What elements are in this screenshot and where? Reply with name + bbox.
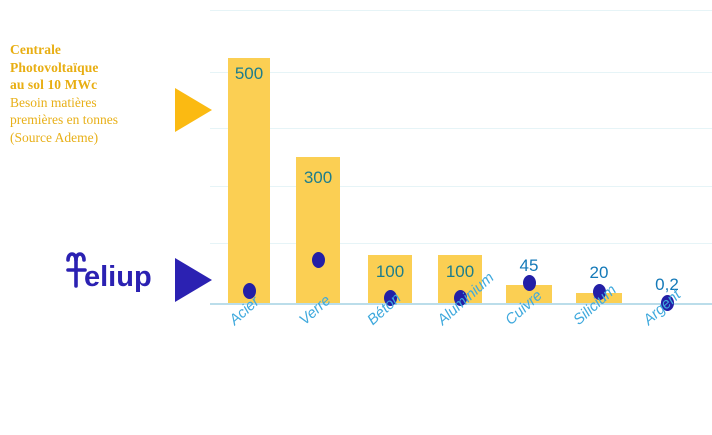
gridline bbox=[210, 243, 712, 244]
bar-value-label: 100 bbox=[368, 262, 412, 282]
bar[interactable] bbox=[228, 58, 270, 303]
bar-value-label: 20 bbox=[576, 263, 622, 283]
bar-value-label: 300 bbox=[296, 168, 340, 188]
chart-page: CentralePhotovoltaïqueau sol 10 MWcBesoi… bbox=[0, 0, 712, 435]
gridline bbox=[210, 72, 712, 73]
heliup-logo: eliup bbox=[62, 246, 157, 294]
gridline bbox=[210, 128, 712, 129]
caption-line: au sol 10 MWc bbox=[10, 76, 175, 94]
bar-value-label: 45 bbox=[506, 256, 552, 276]
caption-line: Photovoltaïque bbox=[10, 59, 175, 77]
caption-line: premières en tonnes bbox=[10, 111, 175, 129]
triangle-pointer-blue-icon bbox=[175, 258, 212, 302]
gridline bbox=[210, 186, 712, 187]
bar-value-label: 500 bbox=[228, 64, 270, 84]
gridline bbox=[210, 10, 712, 11]
triangle-pointer-yellow-icon bbox=[175, 88, 212, 132]
caption-line: Centrale bbox=[10, 41, 175, 59]
caption-line: (Source Ademe) bbox=[10, 129, 175, 147]
dot-marker[interactable] bbox=[312, 252, 325, 268]
caption-line: Besoin matières bbox=[10, 94, 175, 112]
logo-wordmark: eliup bbox=[84, 261, 152, 293]
plot-area: 50030010010045200,2 AcierVerreBétonAlumi… bbox=[210, 0, 712, 310]
caption-block: CentralePhotovoltaïqueau sol 10 MWcBesoi… bbox=[10, 41, 175, 146]
